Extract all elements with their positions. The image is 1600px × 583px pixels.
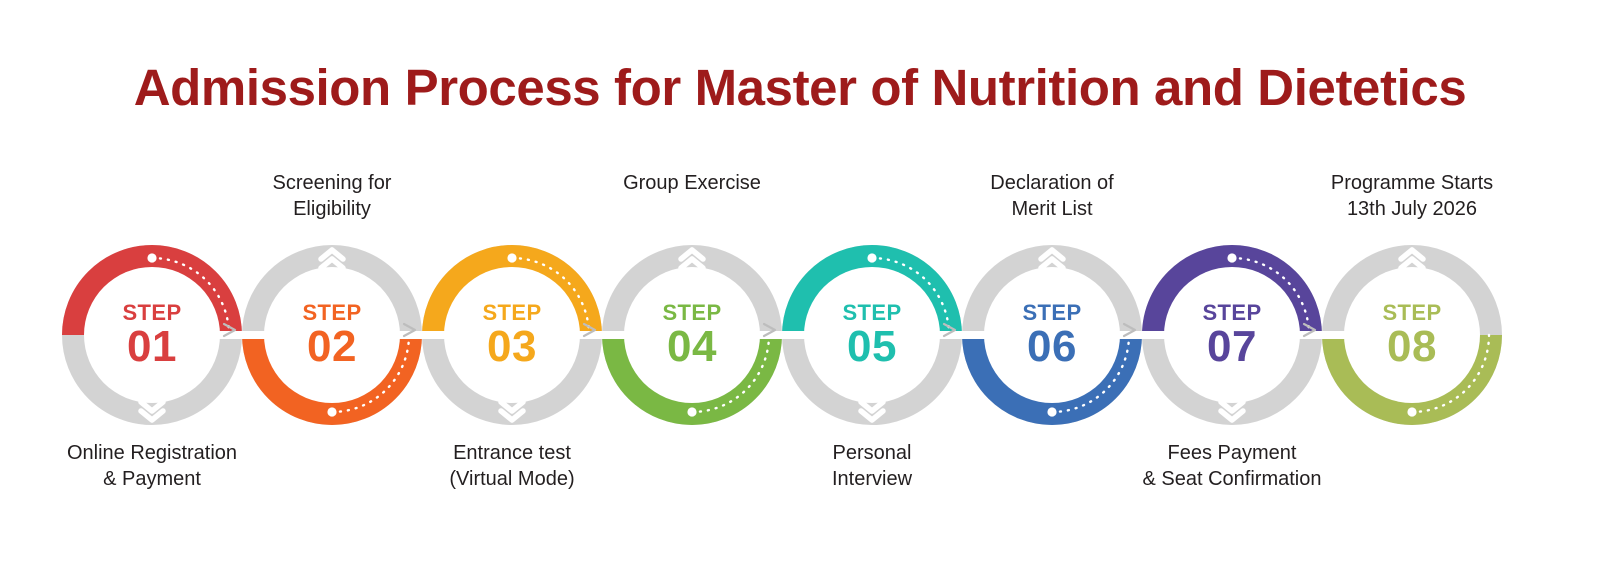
connector-arrow-icon: [1120, 321, 1144, 339]
path-start-dot: [867, 253, 876, 262]
path-start-dot: [1407, 407, 1416, 416]
step-word-label: STEP: [1022, 302, 1081, 324]
step-number-label: 04: [667, 325, 717, 369]
step-word-label: STEP: [1202, 302, 1261, 324]
path-start-dot: [507, 253, 516, 262]
path-start-dot: [1227, 253, 1236, 262]
step-number-label: 08: [1387, 325, 1437, 369]
connector-arrow-icon: [220, 321, 244, 339]
step-word-label: STEP: [302, 302, 361, 324]
step-number-label: 02: [307, 325, 357, 369]
step-caption-04: Group Exercise: [542, 170, 842, 196]
step-word-label: STEP: [1382, 302, 1441, 324]
path-start-dot: [147, 253, 156, 262]
path-start-dot: [687, 407, 696, 416]
step-caption-08: Programme Starts 13th July 2026: [1262, 170, 1562, 222]
step-number-label: 07: [1207, 325, 1257, 369]
connector-arrow-icon: [760, 321, 784, 339]
step-word-label: STEP: [842, 302, 901, 324]
step-caption-06: Declaration of Merit List: [902, 170, 1202, 222]
step-number-label: 05: [847, 325, 897, 369]
step-caption-07: Fees Payment & Seat Confirmation: [1082, 440, 1382, 492]
step-number-label: 06: [1027, 325, 1077, 369]
step-word-label: STEP: [662, 302, 721, 324]
step-number-label: 01: [127, 325, 177, 369]
step-number-label: 03: [487, 325, 537, 369]
connector-arrow-icon: [940, 321, 964, 339]
connector-arrow-icon: [400, 321, 424, 339]
path-start-dot: [1047, 407, 1056, 416]
connector-arrow-icon: [1300, 321, 1324, 339]
infographic-page: Admission Process for Master of Nutritio…: [0, 0, 1600, 583]
step-word-label: STEP: [482, 302, 541, 324]
connector-arrow-icon: [580, 321, 604, 339]
step-caption-02: Screening for Eligibility: [182, 170, 482, 222]
step-caption-01: Online Registration & Payment: [2, 440, 302, 492]
step-word-label: STEP: [122, 302, 181, 324]
step-caption-05: Personal Interview: [722, 440, 1022, 492]
step-caption-03: Entrance test (Virtual Mode): [362, 440, 662, 492]
path-start-dot: [327, 407, 336, 416]
step-flow: STEP01Online Registration & PaymentSTEP0…: [0, 0, 1600, 583]
